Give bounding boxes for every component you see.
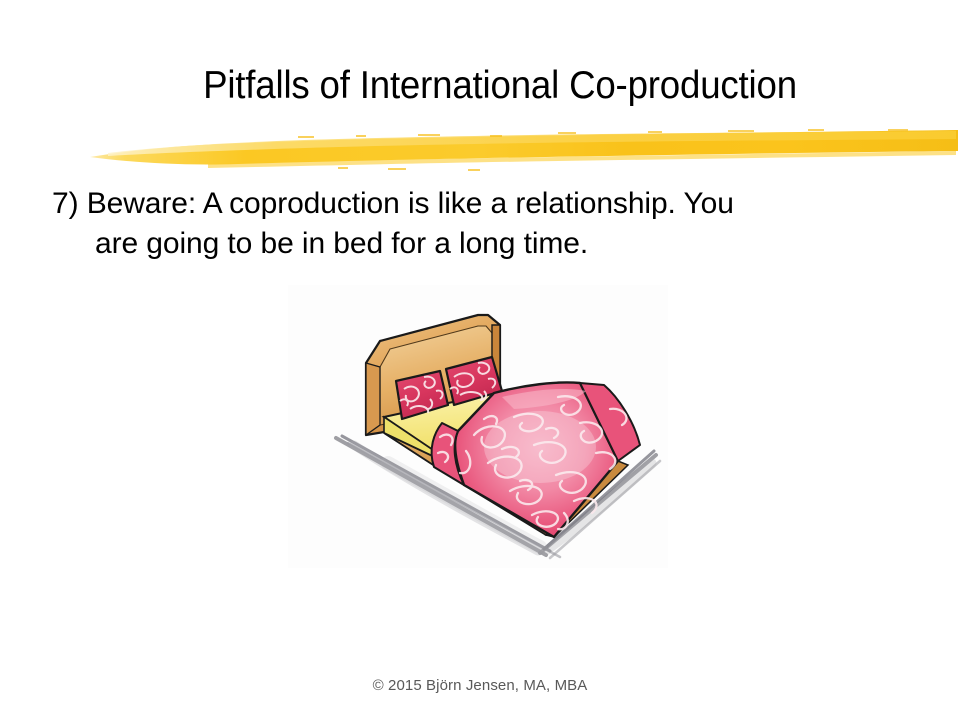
duvet-center-bloom	[484, 411, 596, 483]
page-title: Pitfalls of International Co-production	[86, 63, 913, 109]
body-line-2: are going to be in bed for a long time.	[52, 224, 932, 264]
copyright-footer: © 2015 Björn Jensen, MA, MBA	[0, 676, 960, 696]
bed-illustration	[288, 285, 668, 568]
body-text-block: 7) Beware: A coproduction is like a rela…	[52, 184, 932, 264]
body-line-1: 7) Beware: A coproduction is like a rela…	[52, 184, 932, 224]
headboard-left-edge	[366, 363, 380, 435]
brush-stroke-divider	[88, 126, 960, 174]
slide-canvas: Pitfalls of International Co-production	[0, 0, 960, 720]
